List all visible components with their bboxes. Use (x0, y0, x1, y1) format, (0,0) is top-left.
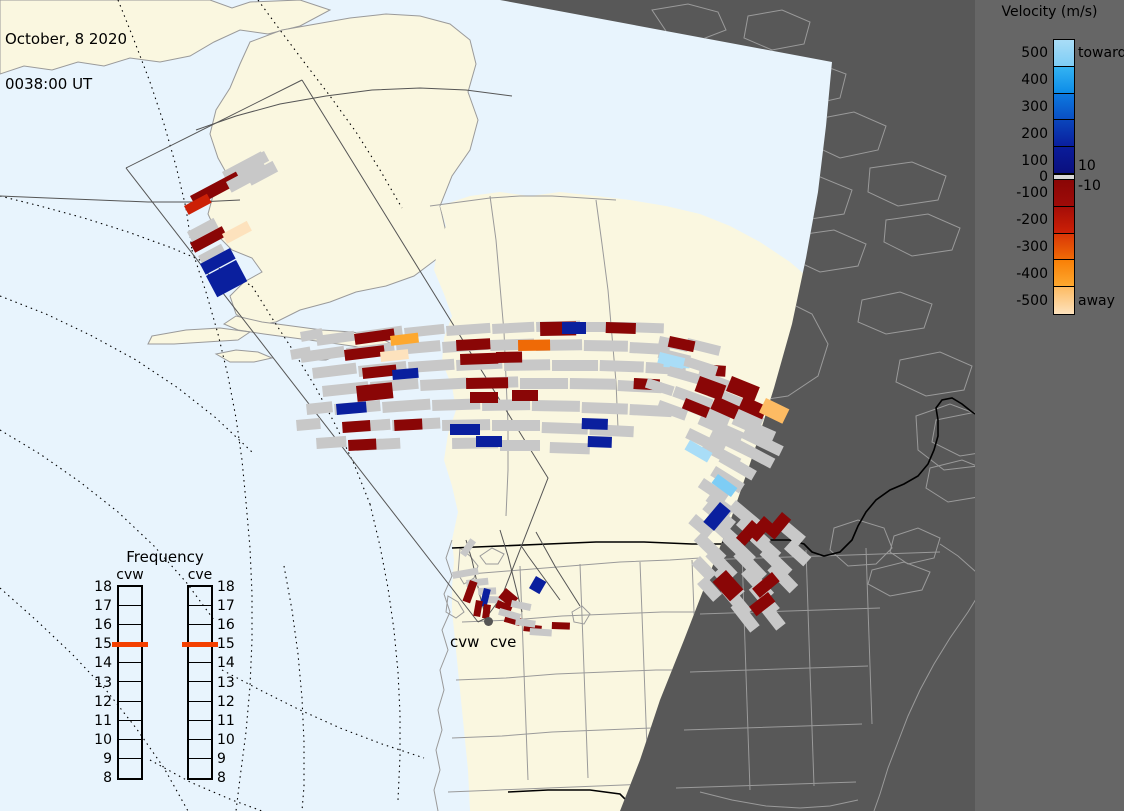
colorbar-tick-label: -500 (978, 294, 1048, 308)
freq-cell (189, 702, 211, 721)
colorbar-tick-label: 300 (978, 100, 1048, 114)
freq-bar-cve[interactable] (187, 585, 213, 780)
colorbar-band (1054, 120, 1074, 147)
colorbar-tick-label: 100 (978, 154, 1048, 168)
freq-tick-label-right: 16 (217, 618, 239, 632)
freq-tick-label-left: 11 (90, 714, 112, 728)
freq-tick-label-right: 15 (217, 637, 239, 651)
freq-tick-label-right: 11 (217, 714, 239, 728)
freq-tick-label-right: 8 (217, 771, 239, 785)
colorbar-band (1054, 40, 1074, 67)
freq-cell (119, 683, 141, 702)
freq-tick-label-left: 17 (90, 599, 112, 613)
time-text: 0038:00 UT (5, 77, 127, 92)
colorbar-gradient[interactable] (1053, 39, 1075, 315)
colorbar-inner-negative-label: -10 (1078, 179, 1101, 193)
freq-cell (189, 759, 211, 778)
freq-tick-label-left: 18 (90, 580, 112, 594)
freq-tick-label-left: 15 (90, 637, 112, 651)
freq-tick-label-left: 10 (90, 733, 112, 747)
freq-cell (189, 740, 211, 759)
freq-tick-label-right: 13 (217, 676, 239, 690)
colorbar-away-label: away (1078, 294, 1115, 308)
freq-cell (119, 702, 141, 721)
superdarn-velocity-map: cvw cve October, 8 2020 0038:00 UT Frequ… (0, 0, 1124, 811)
colorbar-band (1054, 180, 1074, 207)
freq-tick-label-right: 18 (217, 580, 239, 594)
freq-cell (119, 663, 141, 682)
freq-cell (189, 721, 211, 740)
frequency-legend-title: Frequency (90, 548, 240, 566)
freq-cell (119, 759, 141, 778)
colorbar-tick-label: -300 (978, 240, 1048, 254)
freq-tick-label-right: 10 (217, 733, 239, 747)
freq-tick-label-right: 14 (217, 656, 239, 670)
freq-column-header-cvw: cvw (108, 567, 152, 583)
freq-cell (189, 683, 211, 702)
radar-site-marker (484, 617, 493, 626)
freq-tick-label-left: 9 (90, 752, 112, 766)
freq-cell (189, 587, 211, 606)
colorbar-band (1054, 207, 1074, 234)
colorbar-tick-label: 500 (978, 46, 1048, 60)
colorbar-band (1054, 147, 1074, 174)
colorbar-tick-label: 400 (978, 73, 1048, 87)
freq-tick-label-left: 16 (90, 618, 112, 632)
freq-cell (119, 606, 141, 625)
freq-tick-label-left: 14 (90, 656, 112, 670)
freq-cell (119, 740, 141, 759)
colorbar-band (1054, 94, 1074, 121)
colorbar-tick-label: -200 (978, 213, 1048, 227)
colorbar-band (1054, 287, 1074, 314)
colorbar-band (1054, 67, 1074, 94)
freq-tick-label-right: 12 (217, 695, 239, 709)
colorbar-title: Velocity (m/s) (975, 4, 1124, 20)
site-label-cve: cve (490, 633, 516, 651)
colorbar-band (1054, 260, 1074, 287)
colorbar-tick-label: 200 (978, 127, 1048, 141)
date-text: October, 8 2020 (5, 32, 127, 47)
freq-cell (119, 721, 141, 740)
colorbar-panel: Velocity (m/s) 5004003002001000-100-200-… (975, 0, 1124, 811)
colorbar-tick-label: 0 (978, 170, 1048, 184)
colorbar-tick-label: -100 (978, 186, 1048, 200)
colorbar-inner-positive-label: 10 (1078, 159, 1096, 173)
freq-cell (189, 663, 211, 682)
freq-column-header-cve: cve (178, 567, 222, 583)
colorbar-toward-label: toward (1078, 46, 1124, 60)
freq-tick-label-left: 13 (90, 676, 112, 690)
timestamp-block: October, 8 2020 0038:00 UT (5, 2, 127, 122)
freq-marker (112, 642, 148, 647)
frequency-legend: Frequency cvw cve 18171615141312111098 1… (90, 548, 240, 788)
freq-marker (182, 642, 218, 647)
freq-tick-label-right: 9 (217, 752, 239, 766)
site-label-cvw: cvw (450, 633, 479, 651)
freq-cell (189, 606, 211, 625)
freq-tick-label-right: 17 (217, 599, 239, 613)
freq-tick-label-left: 8 (90, 771, 112, 785)
freq-bar-cvw[interactable] (117, 585, 143, 780)
freq-tick-label-left: 12 (90, 695, 112, 709)
freq-cell (119, 587, 141, 606)
colorbar-tick-label: -400 (978, 267, 1048, 281)
colorbar-band (1054, 234, 1074, 261)
